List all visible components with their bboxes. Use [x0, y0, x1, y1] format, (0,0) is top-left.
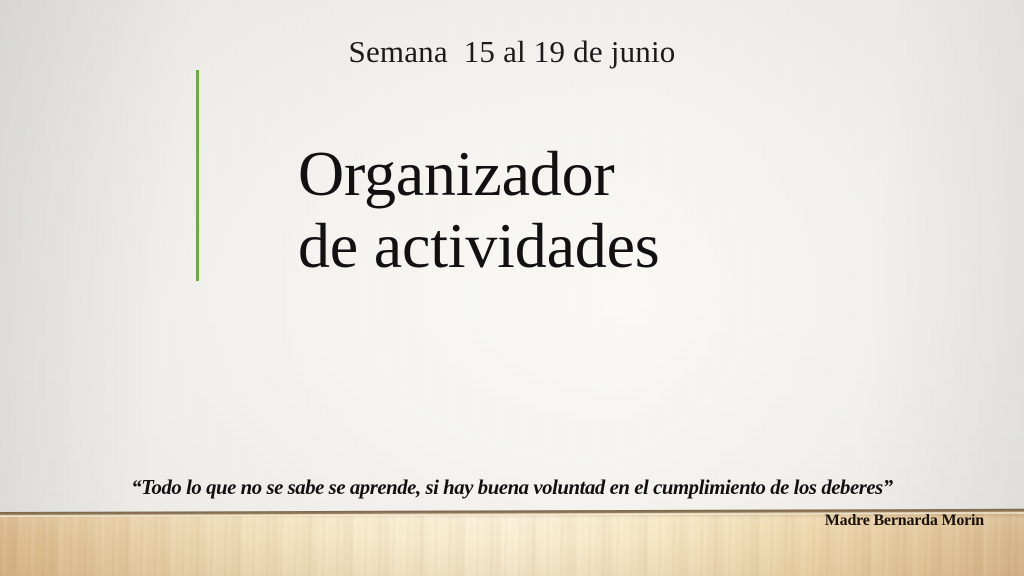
slide-title-line-2: de actividades	[298, 210, 918, 282]
slide-title: Organizador de actividades	[298, 138, 918, 281]
slide-subtitle-date-range: Semana 15 al 19 de junio	[0, 36, 1024, 69]
presentation-slide: Semana 15 al 19 de junio Organizador de …	[0, 0, 1024, 576]
green-accent-bar	[196, 70, 199, 281]
footer-quote: “Todo lo que no se sabe se aprende, si h…	[18, 475, 1006, 500]
slide-title-line-1: Organizador	[298, 138, 918, 210]
quote-attribution: Madre Bernarda Morin	[825, 512, 984, 530]
